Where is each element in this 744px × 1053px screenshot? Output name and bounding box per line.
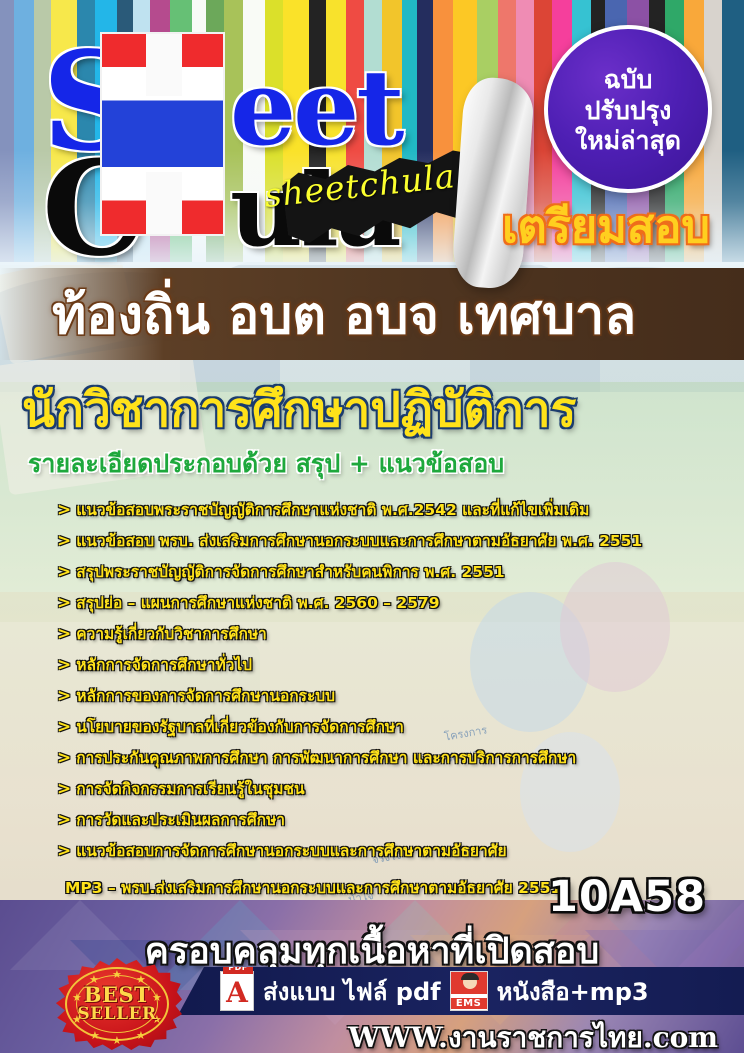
flag-notch: [146, 34, 182, 96]
bullet-marker-icon: >: [57, 779, 71, 799]
bullet-marker-icon: >: [57, 748, 71, 768]
pdf-glyph: A: [221, 978, 253, 1008]
best-seller-seal: ★ ★ ★ ★ ★ ★ ★ ★ ★ ★ BEST SELLER: [52, 958, 182, 1050]
topic-list-item: >การประกันคุณภาพการศึกษา การพัฒนาการศึกษ…: [57, 742, 657, 773]
book-delivery-label: หนังสือ+mp3: [497, 972, 649, 1011]
bullet-marker-icon: >: [57, 686, 71, 706]
topic-list-item: >สรุปพระราชบัญญัติการจัดการศึกษาสำหรับคน…: [57, 556, 657, 587]
topic-list-item: >การจัดกิจกรรมการเรียนรู้ในชุมชน: [57, 773, 657, 804]
poster-root: โครงการ พัฒนา จริงใจ น้ำใจ S C eet ula s…: [0, 0, 744, 1053]
bullet-marker-icon: >: [57, 500, 71, 520]
job-position-title: นักวิชาการศึกษาปฏิบัติการ: [22, 372, 576, 448]
topic-list: >แนวข้อสอบพระราชบัญญัติการศึกษาแห่งชาติ …: [57, 494, 657, 866]
thai-flag-h-icon: [100, 32, 225, 236]
seal-line-1: BEST: [84, 984, 151, 1006]
content-subtitle: รายละเอียดประกอบด้วย สรุป + แนวข้อสอบ: [28, 444, 504, 484]
badge-line-3: ใหม่ล่าสุด: [575, 126, 681, 157]
seal-text: BEST SELLER: [52, 958, 182, 1050]
topic-list-item-label: การวัดและประเมินผลการศึกษา: [76, 807, 285, 832]
topic-list-item-label: แนวข้อสอบ พรบ. ส่งเสริมการศึกษานอกระบบแล…: [76, 528, 642, 553]
mp3-bonus-line: MP3 – พรบ.ส่งเสริมการศึกษานอกระบบและการศ…: [65, 875, 561, 900]
color-stripe: [14, 0, 34, 262]
topic-list-item: >ความรู้เกี่ยวกับวิชาการศึกษา: [57, 618, 657, 649]
badge-line-2: ปรับปรุง: [585, 96, 672, 127]
ems-courier-cap: [461, 973, 479, 980]
badge-line-1: ฉบับ: [604, 65, 653, 96]
bullet-marker-icon: >: [57, 562, 71, 582]
bullet-marker-icon: >: [57, 810, 71, 830]
bullet-marker-icon: >: [57, 655, 71, 675]
logo-letters-eet: eet: [230, 56, 401, 160]
bullet-marker-icon: >: [57, 624, 71, 644]
topic-list-item: >แนวข้อสอบ พรบ. ส่งเสริมการศึกษานอกระบบแ…: [57, 525, 657, 556]
color-stripe: [0, 0, 14, 262]
delivery-options-ribbon: PDF A ส่งแบบ ไฟล์ pdf EMS หนังสือ+mp3: [178, 967, 744, 1015]
topic-list-item-label: ความรู้เกี่ยวกับวิชาการศึกษา: [76, 621, 267, 646]
topic-list-item-label: หลักการของการจัดการศึกษานอกระบบ: [76, 683, 335, 708]
topic-list-item: >สรุปย่อ – แผนการศึกษาแห่งชาติ พ.ศ. 2560…: [57, 587, 657, 618]
exam-prep-label: เตรียมสอบ: [502, 190, 710, 262]
pdf-file-icon: PDF A: [220, 971, 254, 1011]
flag-notch: [146, 172, 182, 234]
topic-list-item-label: สรุปพระราชบัญญัติการจัดการศึกษาสำหรับคนพ…: [76, 559, 504, 584]
topic-list-item-label: นโยบายของรัฐบาลที่เกี่ยวข้องกับการจัดการ…: [76, 714, 404, 739]
website-url: WWW.งานราชการไทย.com: [348, 1016, 718, 1053]
bullet-marker-icon: >: [57, 841, 71, 861]
bullet-marker-icon: >: [57, 717, 71, 737]
topic-list-item-label: สรุปย่อ – แผนการศึกษาแห่งชาติ พ.ศ. 2560 …: [76, 590, 439, 615]
product-code: 10A58: [548, 872, 706, 922]
bullet-marker-icon: >: [57, 531, 71, 551]
topic-list-item-label: หลักการจัดการศึกษาทั่วไป: [76, 652, 252, 677]
topic-list-item: >การวัดและประเมินผลการศึกษา: [57, 804, 657, 835]
seal-line-2: SELLER: [77, 1006, 156, 1024]
topic-list-item-label: การจัดกิจกรรมการเรียนรู้ในชุมชน: [76, 776, 304, 801]
ems-tag-label: EMS: [451, 998, 487, 1009]
pdf-delivery-label: ส่งแบบ ไฟล์ pdf: [263, 972, 441, 1011]
brand-logo: S C eet ula sheetchula: [34, 38, 454, 256]
bullet-marker-icon: >: [57, 593, 71, 613]
topic-list-item: >แนวข้อสอบพระราชบัญญัติการศึกษาแห่งชาติ …: [57, 494, 657, 525]
color-stripe: [722, 0, 744, 262]
topic-list-item-label: แนวข้อสอบพระราชบัญญัติการศึกษาแห่งชาติ พ…: [76, 497, 589, 522]
topic-list-item: >หลักการจัดการศึกษาทั่วไป: [57, 649, 657, 680]
ems-shipping-icon: EMS: [450, 971, 488, 1011]
topic-list-item-label: การประกันคุณภาพการศึกษา การพัฒนาการศึกษา…: [76, 745, 576, 770]
new-edition-badge: ฉบับ ปรับปรุง ใหม่ล่าสุด: [544, 25, 712, 193]
topic-list-item: >หลักการของการจัดการศึกษานอกระบบ: [57, 680, 657, 711]
topic-list-item: >นโยบายของรัฐบาลที่เกี่ยวข้องกับการจัดกา…: [57, 711, 657, 742]
topic-list-item: >แนวข้อสอบการจัดการศึกษานอกระบบและการศึก…: [57, 835, 657, 866]
topic-list-item-label: แนวข้อสอบการจัดการศึกษานอกระบบและการศึกษ…: [76, 838, 506, 863]
